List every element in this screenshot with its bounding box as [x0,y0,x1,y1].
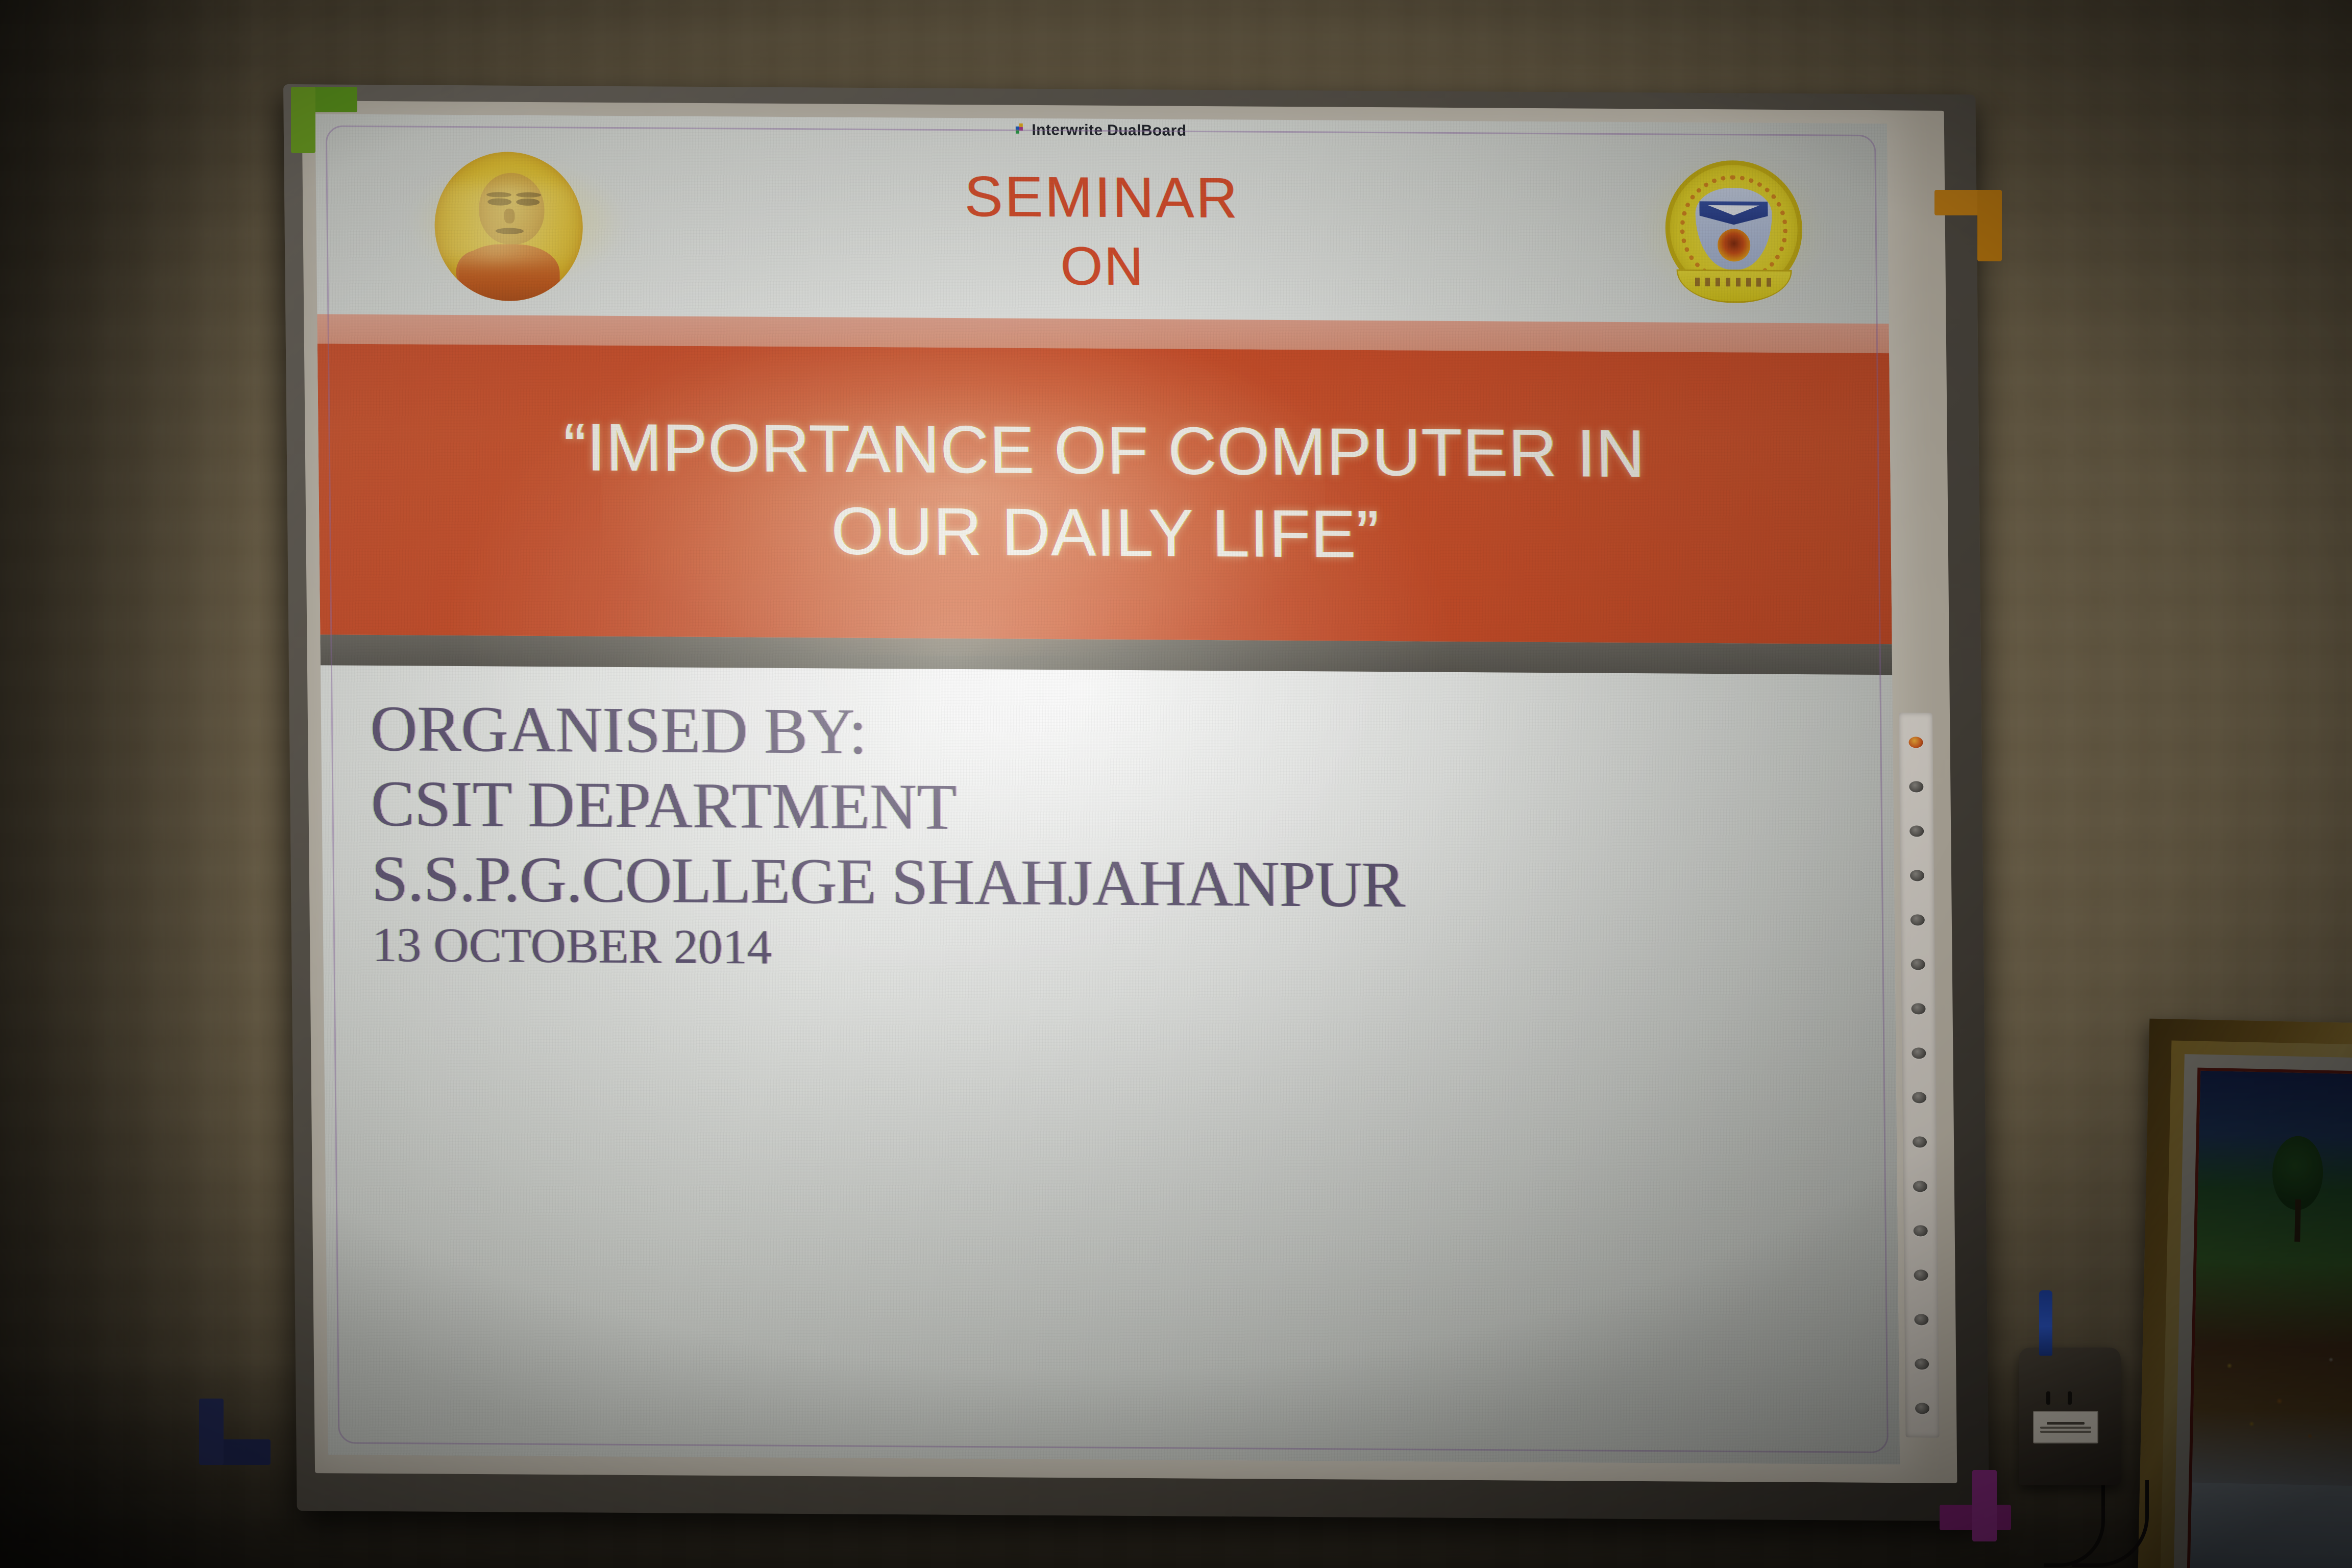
board-button-11[interactable] [1914,1225,1928,1236]
board-button-strip[interactable] [1899,713,1940,1437]
slide-heading-group: SEMINAR ON [315,163,1889,300]
projected-slide-area: Interwrite DualBoard [315,114,1900,1464]
corner-marker-bottom-right [1940,1470,2011,1541]
board-button-color-picker[interactable] [1908,737,1923,748]
whiteboard-surface[interactable]: Interwrite DualBoard [302,101,1957,1483]
slide-title-banner: “IMPORTANCE OF COMPUTER IN OUR DAILY LIF… [317,314,1892,675]
banner-title-line-2: OUR DAILY LIFE” [830,489,1379,575]
corner-marker-bottom-left [199,1399,271,1465]
board-button-5[interactable] [1911,959,1925,970]
board-button-9[interactable] [1913,1136,1927,1147]
slide-heading-seminar: SEMINAR [315,163,1888,232]
banner-body: “IMPORTANCE OF COMPUTER IN OUR DAILY LIF… [317,344,1892,644]
board-button-8[interactable] [1912,1092,1926,1103]
corner-marker-top-left [291,87,357,153]
board-button-15[interactable] [1915,1403,1929,1414]
body-date: 13 OCTOBER 2014 [372,916,1846,982]
slide-body: ORGANISED BY: CSIT DEPARTMENT S.S.P.G.CO… [321,691,1895,982]
slide-heading-on: ON [316,234,1889,300]
board-button-1[interactable] [1909,781,1923,792]
whiteboard-brand-label: Interwrite DualBoard [1032,121,1186,140]
board-button-2[interactable] [1909,825,1924,837]
interwrite-logo-icon [1016,124,1026,137]
interactive-whiteboard[interactable]: Interwrite DualBoard [283,84,1989,1521]
board-button-14[interactable] [1915,1358,1929,1369]
board-button-12[interactable] [1914,1269,1928,1281]
body-college: S.S.P.G.COLLEGE SHAHJAHANPUR [371,841,1846,925]
board-button-7[interactable] [1912,1047,1926,1059]
body-department: CSIT DEPARTMENT [371,766,1845,850]
classroom-scene: Interwrite DualBoard [0,0,2352,1568]
pen-tray-label [2033,1411,2098,1443]
board-button-3[interactable] [1910,870,1924,881]
presentation-slide: SEMINAR ON “IMPORTANCE OF COMPUTER IN OU… [315,114,1900,1464]
body-organised-by: ORGANISED BY: [370,691,1844,775]
board-button-10[interactable] [1913,1181,1927,1192]
framed-landscape-painting [2138,1019,2352,1568]
board-button-4[interactable] [1910,914,1925,925]
wall-shadow-left [0,0,255,1568]
stylus-pen[interactable] [2039,1290,2052,1356]
board-button-13[interactable] [1914,1314,1928,1325]
board-button-6[interactable] [1911,1003,1925,1014]
power-cable-2 [2072,1480,2149,1567]
banner-title-line-1: “IMPORTANCE OF COMPUTER IN [563,406,1645,495]
corner-marker-top-right [1934,190,2002,261]
pen-tray-device[interactable] [2019,1347,2121,1485]
